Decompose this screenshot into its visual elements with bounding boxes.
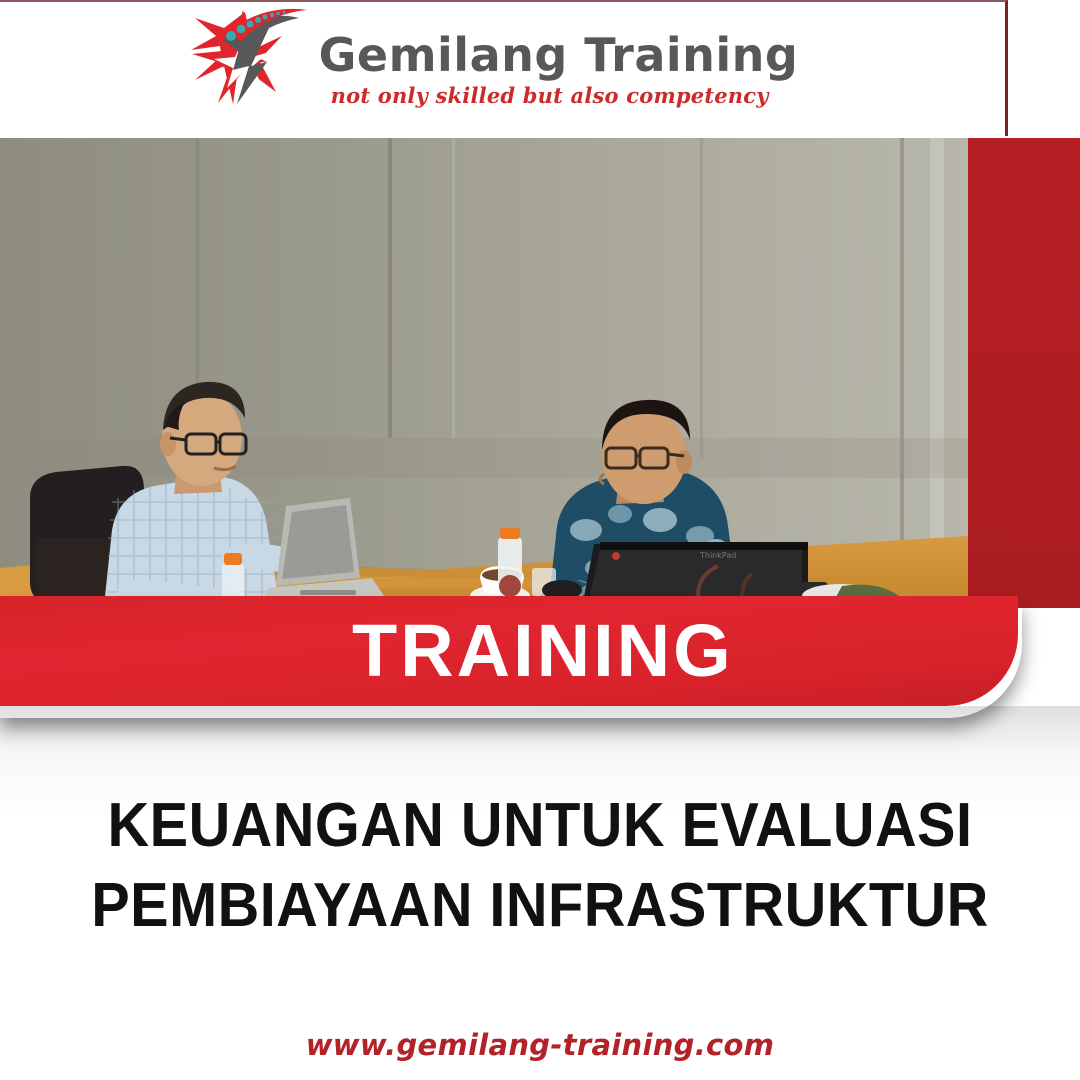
photo-canvas: ThinkPad [0,138,968,608]
svg-text:ThinkPad: ThinkPad [699,551,736,560]
brand-name: Gemilang Training [319,32,799,78]
page-title: KEUANGAN UNTUK EVALUASI PEMBIAYAAN INFRA… [0,786,1080,946]
training-classroom-photo: ThinkPad [0,138,1080,608]
brand-tagline: not only skilled but also competency [331,85,769,106]
logo-text-block: Gemilang Training not only skilled but a… [319,32,799,106]
header-bar: Gemilang Training not only skilled but a… [0,0,1008,136]
brand-logo[interactable]: Gemilang Training not only skilled but a… [183,6,799,132]
page-title-line-1: KEUANGAN UNTUK EVALUASI [38,786,1042,866]
banner-label: TRAINING [352,614,734,688]
page-title-line-2: PEMBIAYAAN INFRASTRUKTUR [38,866,1042,946]
star-swoosh-logo-icon [183,6,313,132]
photo-side-band [968,138,1080,608]
website-url[interactable]: www.gemilang-training.com [0,1028,1080,1062]
training-banner: TRAINING [0,596,1018,706]
footer: www.gemilang-training.com [0,1028,1080,1062]
